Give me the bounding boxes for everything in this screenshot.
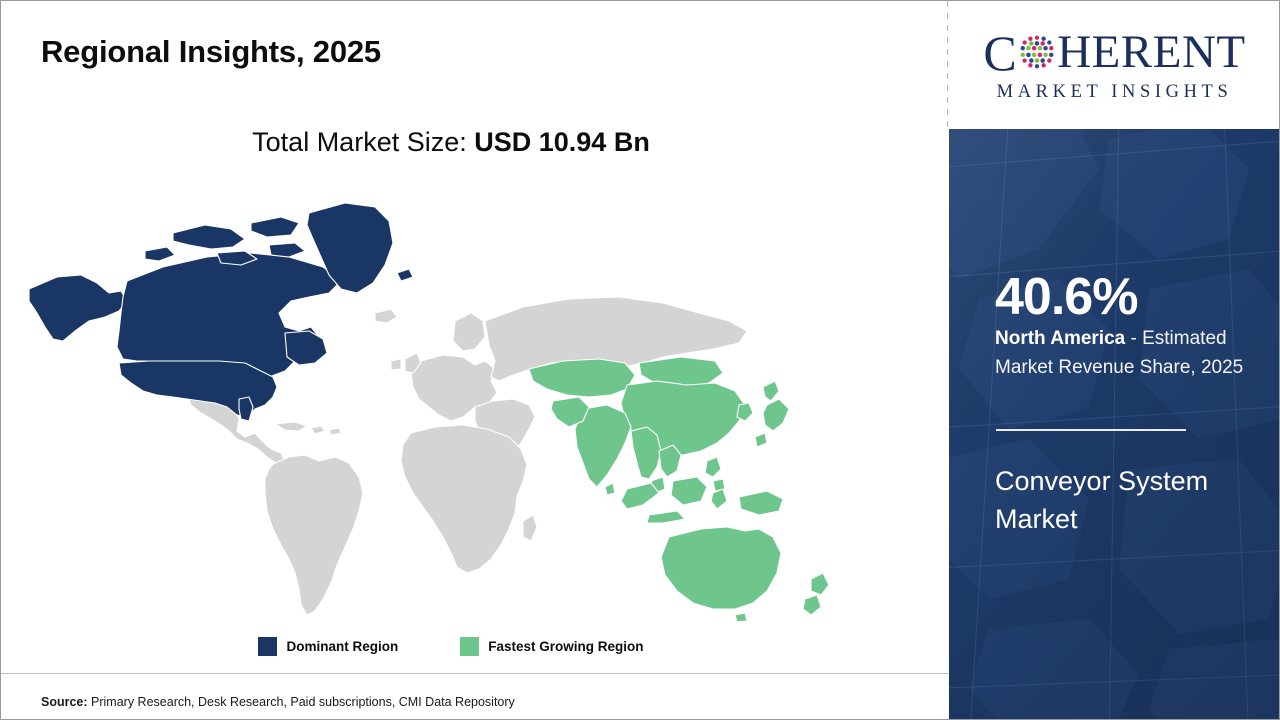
market-name: Conveyor System Market <box>995 463 1263 539</box>
legend-label-dominant: Dominant Region <box>286 639 398 654</box>
page-title: Regional Insights, 2025 <box>41 34 381 70</box>
footer-divider <box>1 673 948 674</box>
source-note: Source: Primary Research, Desk Research,… <box>41 695 515 709</box>
logo-letter-c: C <box>983 28 1017 78</box>
legend-item-dominant: Dominant Region <box>258 637 398 656</box>
stat-panel: 40.6% North America - Estimated Market R… <box>949 129 1280 719</box>
legend-item-growing: Fastest Growing Region <box>460 637 643 656</box>
brand-logo: C <box>949 1 1280 129</box>
total-market-size: Total Market Size: USD 10.94 Bn <box>1 127 901 158</box>
source-text: Primary Research, Desk Research, Paid su… <box>91 695 515 709</box>
stat-divider-rule <box>996 429 1186 431</box>
stat-content: 40.6% North America - Estimated Market R… <box>995 129 1265 719</box>
logo-wordmark: C <box>983 28 1245 78</box>
stat-description: North America - Estimated Market Revenue… <box>995 325 1263 383</box>
panel-divider <box>947 1 948 131</box>
left-panel: Regional Insights, 2025 Total Market Siz… <box>1 1 948 719</box>
legend-swatch-growing <box>460 637 479 656</box>
market-size-value: USD 10.94 Bn <box>474 127 650 157</box>
legend-swatch-dominant <box>258 637 277 656</box>
stat-percentage: 40.6% <box>995 271 1137 323</box>
source-label: Source: <box>41 695 88 709</box>
map-legend: Dominant Region Fastest Growing Region <box>1 637 901 656</box>
dotted-globe-icon <box>1018 33 1056 71</box>
market-size-label: Total Market Size: <box>252 127 467 157</box>
map-region-growing <box>529 357 829 621</box>
world-map <box>23 181 883 621</box>
legend-label-growing: Fastest Growing Region <box>488 639 643 654</box>
map-region-dominant <box>29 203 413 421</box>
stat-region-name: North America <box>995 328 1125 349</box>
logo-subtitle: MARKET INSIGHTS <box>997 82 1233 103</box>
logo-letters-rest: HERENT <box>1057 29 1245 76</box>
infographic-canvas: Regional Insights, 2025 Total Market Siz… <box>0 0 1280 720</box>
